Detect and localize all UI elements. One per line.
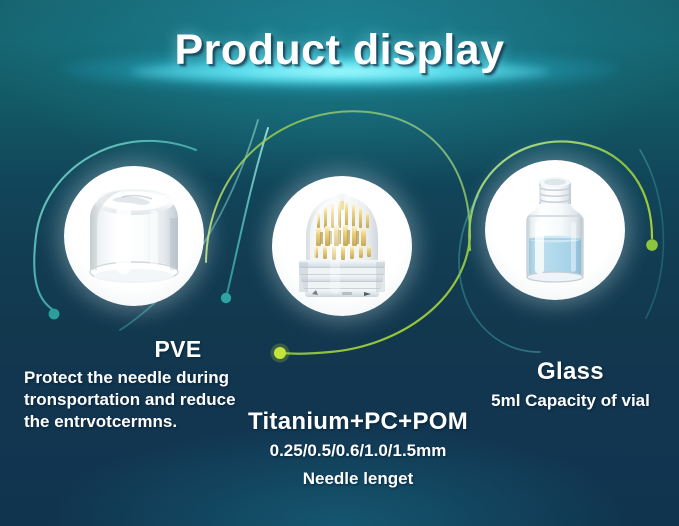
caption-vial-capacity: 5ml Capacity of vial bbox=[468, 390, 673, 412]
product-display-poster: Product display bbox=[0, 0, 679, 526]
caption-vial-title: Glass bbox=[468, 358, 673, 386]
product-image-pve bbox=[64, 166, 204, 306]
caption-cartridge-sizes: 0.25/0.5/0.6/1.0/1.5mm bbox=[218, 440, 498, 462]
glass-vial-photo bbox=[485, 160, 625, 300]
caption-pve-line-1: Protect the needle during bbox=[24, 367, 274, 389]
caption-cartridge-length: Needle lenget bbox=[218, 468, 498, 490]
caption-pve-title: PVE bbox=[24, 336, 274, 363]
pve-cap-photo bbox=[64, 166, 204, 306]
microneedle-cartridge-photo bbox=[272, 176, 412, 316]
page-title: Product display bbox=[0, 26, 679, 75]
product-image-vial bbox=[485, 160, 625, 300]
caption-cartridge-title: Titanium+PC+POM bbox=[218, 408, 498, 436]
product-image-cartridge bbox=[272, 176, 412, 316]
caption-vial: Glass 5ml Capacity of vial bbox=[468, 358, 673, 412]
caption-cartridge: Titanium+PC+POM 0.25/0.5/0.6/1.0/1.5mm N… bbox=[218, 408, 498, 490]
